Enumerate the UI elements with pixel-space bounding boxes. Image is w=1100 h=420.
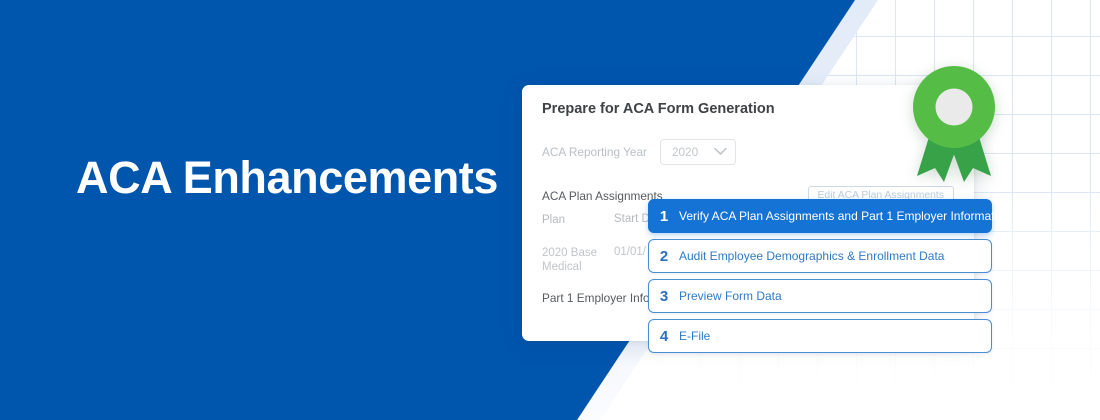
step-number: 2 bbox=[649, 248, 679, 265]
step-label: Preview Form Data bbox=[679, 289, 782, 303]
column-header-plan: Plan bbox=[542, 213, 614, 227]
page-title: ACA Enhancements bbox=[76, 152, 498, 204]
award-ribbon-icon bbox=[911, 64, 997, 182]
step-number: 4 bbox=[649, 328, 679, 345]
step-item-1[interactable]: 1 Verify ACA Plan Assignments and Part 1… bbox=[648, 199, 992, 233]
step-number: 1 bbox=[649, 208, 679, 225]
step-label: E-File bbox=[679, 329, 710, 343]
step-number: 3 bbox=[649, 288, 679, 305]
step-item-4[interactable]: 4 E-File bbox=[648, 319, 992, 353]
card-title: Prepare for ACA Form Generation bbox=[542, 101, 775, 117]
step-item-2[interactable]: 2 Audit Employee Demographics & Enrollme… bbox=[648, 239, 992, 273]
reporting-year-select[interactable]: 2020 bbox=[660, 139, 736, 165]
reporting-year-value: 2020 bbox=[672, 145, 698, 159]
aca-enhancements-banner: ACA Enhancements Prepare for ACA Form Ge… bbox=[0, 0, 1100, 420]
step-label: Audit Employee Demographics & Enrollment… bbox=[679, 249, 944, 263]
step-item-3[interactable]: 3 Preview Form Data bbox=[648, 279, 992, 313]
workflow-steps-list: 1 Verify ACA Plan Assignments and Part 1… bbox=[648, 199, 992, 353]
step-label: Verify ACA Plan Assignments and Part 1 E… bbox=[679, 209, 1011, 223]
reporting-year-field: ACA Reporting Year 2020 bbox=[542, 139, 736, 165]
reporting-year-label: ACA Reporting Year bbox=[542, 145, 647, 159]
chevron-down-icon bbox=[714, 143, 727, 161]
part1-employer-information-label: Part 1 Employer Infor bbox=[542, 291, 653, 305]
cell-plan: 2020 Base Medical bbox=[542, 246, 614, 274]
plan-assignments-label: ACA Plan Assignments bbox=[542, 189, 663, 203]
